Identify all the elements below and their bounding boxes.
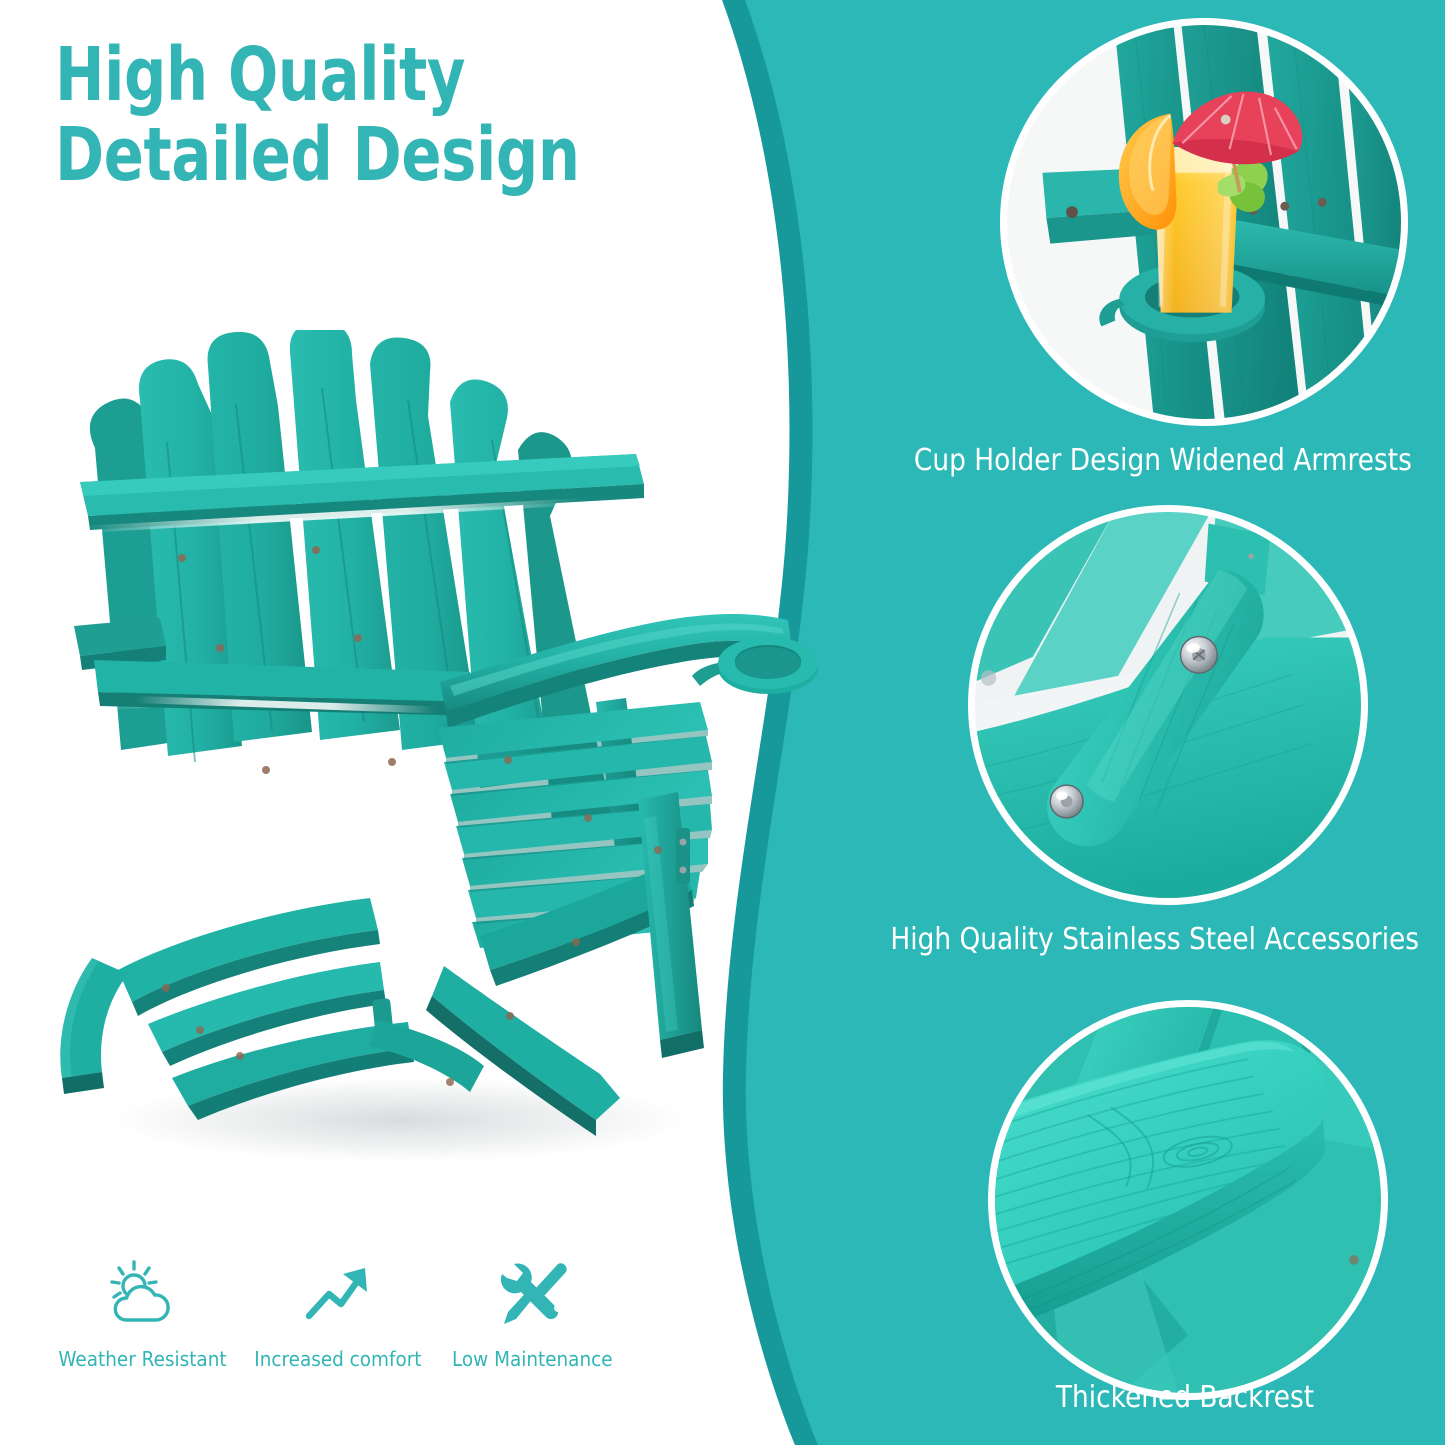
- slat-screw-hole: [1349, 1255, 1359, 1265]
- inset-thick-backrest: [988, 1000, 1388, 1400]
- feature-low-maintenance-label: Low Maintenance: [452, 1347, 613, 1371]
- sun-cloud-icon: [104, 1255, 182, 1333]
- stainless-screw-top: [1181, 636, 1218, 673]
- feature-low-maintenance: Low Maintenance: [435, 1255, 630, 1371]
- wrench-screwdriver-icon: [494, 1255, 572, 1333]
- distant-screw: [981, 670, 996, 685]
- page-title: High Quality Detailed Design: [55, 36, 567, 196]
- trend-arrow-up-icon: [299, 1255, 377, 1333]
- feature-weather-resistant-label: Weather Resistant: [58, 1347, 226, 1371]
- stainless-screw-bottom: [1050, 785, 1083, 818]
- inset-thick-backrest-caption: Thickened Backrest: [961, 1380, 1410, 1415]
- feature-increased-comfort-label: Increased comfort: [254, 1347, 421, 1371]
- main-product-image: [40, 330, 830, 1190]
- feature-increased-comfort: Increased comfort: [240, 1255, 435, 1371]
- page-title-line-2: Detailed Design: [55, 116, 567, 196]
- page-title-line-1: High Quality: [55, 32, 465, 118]
- armrest-screw: [1066, 206, 1078, 218]
- product-infographic: High Quality Detailed Design: [0, 0, 1445, 1445]
- inset-stainless-hardware-caption: High Quality Stainless Steel Accessories: [890, 922, 1409, 957]
- inset-cup-holder-caption: Cup Holder Design Widened Armrests: [914, 443, 1411, 478]
- feature-highlights-row: Weather Resistant Increased comfort: [45, 1255, 705, 1371]
- inset-stainless-hardware: [968, 505, 1368, 905]
- inset-cup-holder: [1000, 18, 1408, 426]
- feature-weather-resistant: Weather Resistant: [45, 1255, 240, 1371]
- folding-hinge-plate: [676, 828, 690, 884]
